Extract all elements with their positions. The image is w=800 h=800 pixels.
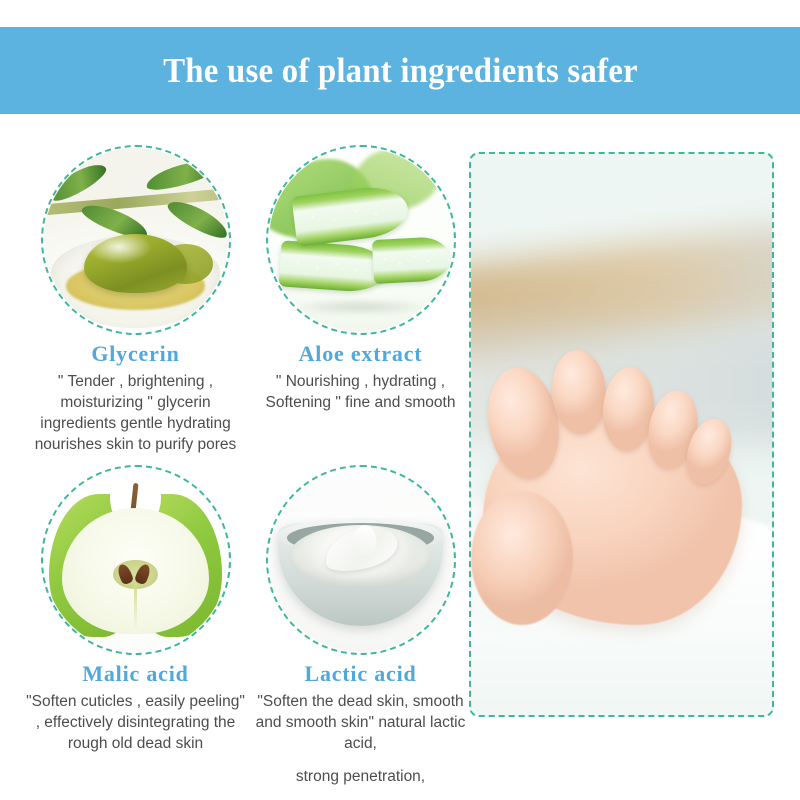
baby-feet-photo bbox=[471, 154, 772, 715]
ingredient-label-glycerin: Glycerin bbox=[23, 341, 248, 367]
aloe-vera-slices-photo bbox=[269, 148, 453, 332]
page-title: The use of plant ingredients safer bbox=[163, 51, 638, 91]
ingredient-description-aloe-extract: " Nourishing , hydrating , Softening " f… bbox=[248, 371, 473, 413]
description-tail: strong penetration, bbox=[250, 766, 471, 787]
ingredient-card-aloe-extract: Aloe extract " Nourishing , hydrating , … bbox=[248, 145, 473, 413]
ingredient-card-glycerin: Glycerin " Tender , brightening , moistu… bbox=[23, 145, 248, 455]
hero-photo-frame bbox=[469, 152, 774, 717]
ingredient-label-lactic-acid: Lactic acid bbox=[248, 661, 473, 687]
ingredient-label-aloe-extract: Aloe extract bbox=[248, 341, 473, 367]
ingredient-grid: Glycerin " Tender , brightening , moistu… bbox=[0, 120, 465, 800]
infographic-page: The use of plant ingredients safer bbox=[0, 0, 800, 800]
cream-bowl-photo bbox=[269, 468, 453, 652]
green-apple-halved-photo bbox=[44, 468, 228, 652]
ingredient-description-lactic-acid: "Soften the dead skin, smooth and smooth… bbox=[248, 691, 473, 787]
ingredient-card-malic-acid: Malic acid "Soften cuticles , easily pee… bbox=[23, 465, 248, 754]
ingredient-image-frame bbox=[41, 145, 231, 335]
header-banner: The use of plant ingredients safer bbox=[0, 27, 800, 114]
ingredient-card-lactic-acid: Lactic acid "Soften the dead skin, smoot… bbox=[248, 465, 473, 787]
ingredient-image-frame bbox=[266, 145, 456, 335]
ingredient-description-malic-acid: "Soften cuticles , easily peeling" , eff… bbox=[23, 691, 248, 754]
ingredient-image-frame bbox=[41, 465, 231, 655]
ingredient-label-malic-acid: Malic acid bbox=[23, 661, 248, 687]
ingredient-image-frame bbox=[266, 465, 456, 655]
olive-oil-photo bbox=[44, 148, 228, 332]
description-main: "Soften the dead skin, smooth and smooth… bbox=[256, 693, 466, 752]
ingredient-description-glycerin: " Tender , brightening , moisturizing " … bbox=[23, 371, 248, 455]
